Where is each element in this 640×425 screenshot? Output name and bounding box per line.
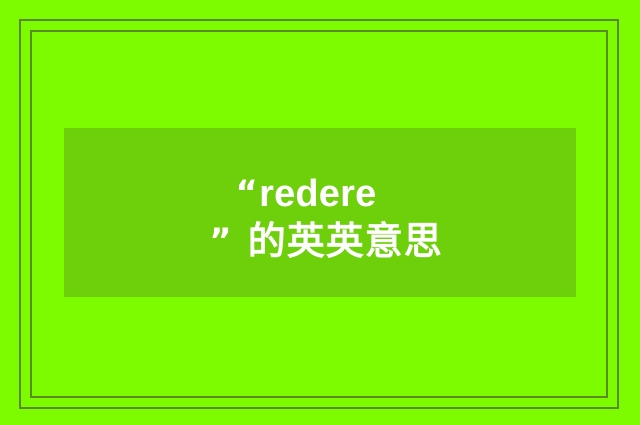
headline-line-2: ”的英英意思	[209, 222, 443, 262]
open-quote-glyph: “	[236, 173, 259, 213]
headline-line-1: “redere	[236, 175, 377, 214]
headline-subtitle-cjk: 的英英意思	[248, 219, 443, 263]
headline-text-block: “redere ”的英英意思	[64, 128, 576, 297]
title-card: “redere ”的英英意思	[0, 0, 640, 425]
headline-panel: “redere ”的英英意思	[64, 128, 576, 297]
close-quote-glyph: ”	[209, 221, 232, 261]
headline-keyword: redere	[259, 173, 376, 215]
